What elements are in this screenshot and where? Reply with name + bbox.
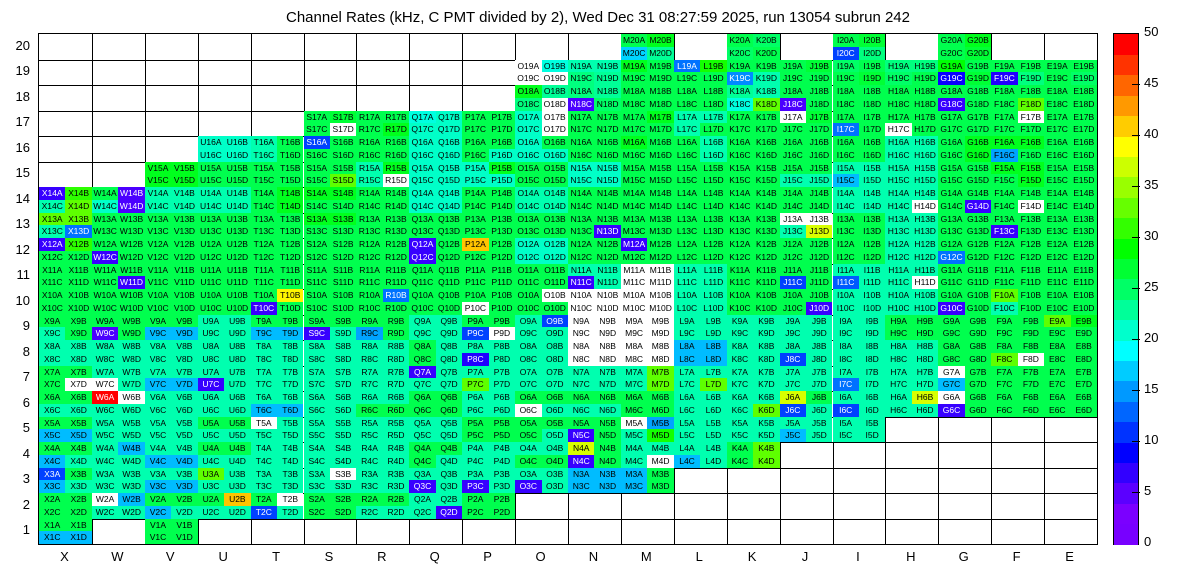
heatmap-subcell[interactable]: I11D: [859, 276, 885, 289]
heatmap-subcell[interactable]: O9D: [542, 327, 568, 340]
heatmap-cell[interactable]: Q14AQ14BQ14CQ14D: [409, 187, 462, 213]
heatmap-subcell[interactable]: S10C: [304, 302, 330, 315]
heatmap-subcell[interactable]: F18C: [991, 98, 1017, 111]
heatmap-subcell[interactable]: O3C: [515, 480, 541, 493]
heatmap-cell[interactable]: T3AT3BT3CT3D: [251, 468, 304, 494]
heatmap-subcell[interactable]: O4D: [542, 455, 568, 468]
heatmap-subcell[interactable]: V14A: [145, 187, 171, 200]
heatmap-subcell[interactable]: F12D: [1018, 251, 1044, 264]
heatmap-cell[interactable]: W13AW13BW13CW13D: [92, 213, 145, 239]
heatmap-subcell[interactable]: K14C: [727, 200, 753, 213]
heatmap-cell[interactable]: T10AT10BT10CT10D: [251, 289, 304, 315]
heatmap-subcell[interactable]: L9B: [700, 315, 726, 328]
heatmap-cell[interactable]: F16AF16BF16CF16D: [991, 136, 1044, 162]
heatmap-subcell[interactable]: X11A: [39, 264, 65, 277]
heatmap-subcell[interactable]: I19C: [833, 72, 859, 85]
heatmap-subcell[interactable]: S9D: [330, 327, 356, 340]
heatmap-subcell[interactable]: P6B: [489, 391, 515, 404]
heatmap-subcell[interactable]: U6D: [224, 404, 250, 417]
heatmap-subcell[interactable]: F14C: [991, 200, 1017, 213]
heatmap-subcell[interactable]: R16A: [356, 136, 382, 149]
heatmap-subcell[interactable]: N8C: [568, 353, 594, 366]
heatmap-cell[interactable]: O18AO18BO18CO18D: [515, 85, 568, 111]
heatmap-cell[interactable]: H11AH11BH11CH11D: [885, 264, 938, 290]
heatmap-subcell[interactable]: J8B: [806, 340, 832, 353]
heatmap-cell[interactable]: K4AK4BK4CK4D: [727, 442, 780, 468]
heatmap-cell[interactable]: W14AW14BW14CW14D: [92, 187, 145, 213]
heatmap-cell[interactable]: F8AF8BF8CF8D: [991, 340, 1044, 366]
heatmap-subcell[interactable]: K14B: [753, 187, 779, 200]
heatmap-subcell[interactable]: I6C: [833, 404, 859, 417]
heatmap-subcell[interactable]: I10C: [833, 302, 859, 315]
heatmap-subcell[interactable]: V11A: [145, 264, 171, 277]
heatmap-subcell[interactable]: P7D: [489, 378, 515, 391]
heatmap-subcell[interactable]: I16C: [833, 149, 859, 162]
heatmap-subcell[interactable]: P9A: [462, 315, 488, 328]
heatmap-subcell[interactable]: I14A: [833, 187, 859, 200]
heatmap-subcell[interactable]: J11B: [806, 264, 832, 277]
heatmap-subcell[interactable]: S17D: [330, 123, 356, 136]
heatmap-subcell[interactable]: W4B: [118, 442, 144, 455]
heatmap-subcell[interactable]: H9D: [912, 327, 938, 340]
heatmap-subcell[interactable]: R9B: [383, 315, 409, 328]
heatmap-subcell[interactable]: G16A: [938, 136, 964, 149]
heatmap-subcell[interactable]: G8A: [938, 340, 964, 353]
heatmap-subcell[interactable]: R9A: [356, 315, 382, 328]
heatmap-subcell[interactable]: O3B: [542, 468, 568, 481]
heatmap-subcell[interactable]: W7B: [118, 366, 144, 379]
heatmap-subcell[interactable]: W13C: [92, 225, 118, 238]
heatmap-subcell[interactable]: S13D: [330, 225, 356, 238]
heatmap-subcell[interactable]: W3C: [92, 480, 118, 493]
heatmap-cell[interactable]: J18AJ18BJ18CJ18D: [780, 85, 833, 111]
heatmap-subcell[interactable]: T7A: [251, 366, 277, 379]
heatmap-subcell[interactable]: N14D: [594, 200, 620, 213]
heatmap-subcell[interactable]: I8A: [833, 340, 859, 353]
heatmap-subcell[interactable]: V5A: [145, 417, 171, 430]
heatmap-cell[interactable]: T12AT12BT12CT12D: [251, 238, 304, 264]
heatmap-subcell[interactable]: L19A: [674, 60, 700, 73]
heatmap-subcell[interactable]: Q11C: [409, 276, 435, 289]
heatmap-subcell[interactable]: W5D: [118, 429, 144, 442]
heatmap-subcell[interactable]: J11C: [780, 276, 806, 289]
heatmap-subcell[interactable]: M3C: [621, 480, 647, 493]
heatmap-subcell[interactable]: F9A: [991, 315, 1017, 328]
heatmap-subcell[interactable]: J19B: [806, 60, 832, 73]
heatmap-subcell[interactable]: U15C: [198, 174, 224, 187]
heatmap-subcell[interactable]: K20A: [727, 34, 753, 47]
heatmap-cell[interactable]: G13AG13BG13CG13D: [938, 213, 991, 239]
heatmap-subcell[interactable]: G7C: [938, 378, 964, 391]
heatmap-subcell[interactable]: H10A: [885, 289, 911, 302]
heatmap-subcell[interactable]: Q3D: [436, 480, 462, 493]
heatmap-cell[interactable]: E16AE16BE16CE16D: [1044, 136, 1097, 162]
heatmap-subcell[interactable]: X14A: [39, 187, 65, 200]
heatmap-subcell[interactable]: H15D: [912, 174, 938, 187]
heatmap-subcell[interactable]: P11A: [462, 264, 488, 277]
heatmap-subcell[interactable]: L12B: [700, 238, 726, 251]
heatmap-subcell[interactable]: G6D: [965, 404, 991, 417]
heatmap-subcell[interactable]: H6C: [885, 404, 911, 417]
heatmap-cell[interactable]: E14AE14BE14CE14D: [1044, 187, 1097, 213]
heatmap-subcell[interactable]: M18B: [647, 85, 673, 98]
heatmap-cell[interactable]: W11AW11BW11CW11D: [92, 264, 145, 290]
heatmap-cell[interactable]: P6AP6BP6CP6D: [462, 391, 515, 417]
heatmap-subcell[interactable]: R4A: [356, 442, 382, 455]
heatmap-subcell[interactable]: K19A: [727, 60, 753, 73]
heatmap-subcell[interactable]: I6B: [859, 391, 885, 404]
heatmap-subcell[interactable]: X14B: [65, 187, 91, 200]
heatmap-subcell[interactable]: O3D: [542, 480, 568, 493]
heatmap-subcell[interactable]: I11C: [833, 276, 859, 289]
heatmap-subcell[interactable]: R11B: [383, 264, 409, 277]
heatmap-subcell[interactable]: V4C: [145, 455, 171, 468]
heatmap-cell[interactable]: N9AN9BN9CN9D: [568, 315, 621, 341]
heatmap-subcell[interactable]: N6B: [594, 391, 620, 404]
heatmap-subcell[interactable]: U7C: [198, 378, 224, 391]
heatmap-cell[interactable]: G8AG8BG8CG8D: [938, 340, 991, 366]
heatmap-subcell[interactable]: O19B: [542, 60, 568, 73]
heatmap-subcell[interactable]: N9C: [568, 327, 594, 340]
heatmap-subcell[interactable]: N16C: [568, 149, 594, 162]
heatmap-subcell[interactable]: K16B: [753, 136, 779, 149]
heatmap-subcell[interactable]: Q16D: [436, 149, 462, 162]
heatmap-subcell[interactable]: J12A: [780, 238, 806, 251]
heatmap-subcell[interactable]: K5B: [753, 417, 779, 430]
heatmap-cell[interactable]: U4AU4BU4CU4D: [198, 442, 251, 468]
heatmap-subcell[interactable]: T4A: [251, 442, 277, 455]
heatmap-cell[interactable]: T16AT16BT16CT16D: [251, 136, 304, 162]
heatmap-subcell[interactable]: G16B: [965, 136, 991, 149]
heatmap-subcell[interactable]: I20B: [859, 34, 885, 47]
heatmap-subcell[interactable]: K20B: [753, 34, 779, 47]
heatmap-subcell[interactable]: X1C: [39, 531, 65, 544]
heatmap-subcell[interactable]: H13B: [912, 213, 938, 226]
heatmap-subcell[interactable]: X14C: [39, 200, 65, 213]
heatmap-subcell[interactable]: U9C: [198, 327, 224, 340]
heatmap-subcell[interactable]: H14C: [885, 200, 911, 213]
heatmap-subcell[interactable]: V4A: [145, 442, 171, 455]
heatmap-cell[interactable]: U6AU6BU6CU6D: [198, 391, 251, 417]
heatmap-subcell[interactable]: R8C: [356, 353, 382, 366]
heatmap-subcell[interactable]: T13A: [251, 213, 277, 226]
heatmap-subcell[interactable]: N15D: [594, 174, 620, 187]
heatmap-subcell[interactable]: N9B: [594, 315, 620, 328]
heatmap-subcell[interactable]: O9B: [542, 315, 568, 328]
heatmap-subcell[interactable]: T5A: [251, 417, 277, 430]
heatmap-subcell[interactable]: Q6C: [409, 404, 435, 417]
heatmap-subcell[interactable]: Q14D: [436, 200, 462, 213]
heatmap-subcell[interactable]: R10D: [383, 302, 409, 315]
heatmap-cell[interactable]: W8AW8BW8CW8D: [92, 340, 145, 366]
heatmap-subcell[interactable]: J13D: [806, 225, 832, 238]
heatmap-subcell[interactable]: Q17C: [409, 123, 435, 136]
heatmap-subcell[interactable]: O19D: [542, 72, 568, 85]
heatmap-cell[interactable]: R16AR16BR16CR16D: [356, 136, 409, 162]
heatmap-cell[interactable]: I6AI6BI6CI6D: [833, 391, 886, 417]
heatmap-subcell[interactable]: G17B: [965, 111, 991, 124]
heatmap-subcell[interactable]: R14A: [356, 187, 382, 200]
heatmap-subcell[interactable]: G15B: [965, 162, 991, 175]
heatmap-subcell[interactable]: H10C: [885, 302, 911, 315]
heatmap-subcell[interactable]: S15D: [330, 174, 356, 187]
heatmap-subcell[interactable]: K12C: [727, 251, 753, 264]
heatmap-cell[interactable]: U5AU5BU5CU5D: [198, 417, 251, 443]
heatmap-subcell[interactable]: T15D: [277, 174, 303, 187]
heatmap-subcell[interactable]: V2C: [145, 506, 171, 519]
heatmap-subcell[interactable]: N3A: [568, 468, 594, 481]
heatmap-subcell[interactable]: R8B: [383, 340, 409, 353]
heatmap-subcell[interactable]: L5B: [700, 417, 726, 430]
heatmap-subcell[interactable]: K4A: [727, 442, 753, 455]
heatmap-cell[interactable]: F12AF12BF12CF12D: [991, 238, 1044, 264]
heatmap-subcell[interactable]: E18C: [1044, 98, 1070, 111]
heatmap-subcell[interactable]: X12B: [65, 238, 91, 251]
heatmap-subcell[interactable]: K18B: [753, 85, 779, 98]
heatmap-subcell[interactable]: Q12C: [409, 251, 435, 264]
heatmap-subcell[interactable]: N3B: [594, 468, 620, 481]
heatmap-cell[interactable]: R6AR6BR6CR6D: [356, 391, 409, 417]
heatmap-subcell[interactable]: K7C: [727, 378, 753, 391]
heatmap-subcell[interactable]: U8D: [224, 353, 250, 366]
heatmap-subcell[interactable]: H12A: [885, 238, 911, 251]
heatmap-subcell[interactable]: U6B: [224, 391, 250, 404]
heatmap-subcell[interactable]: G12A: [938, 238, 964, 251]
heatmap-subcell[interactable]: G20C: [938, 47, 964, 60]
heatmap-cell[interactable]: L18AL18BL18CL18D: [674, 85, 727, 111]
heatmap-subcell[interactable]: N15C: [568, 174, 594, 187]
heatmap-subcell[interactable]: N13B: [594, 213, 620, 226]
heatmap-subcell[interactable]: N12C: [568, 251, 594, 264]
heatmap-subcell[interactable]: U5B: [224, 417, 250, 430]
heatmap-cell[interactable]: I13AI13BI13CI13D: [833, 213, 886, 239]
heatmap-subcell[interactable]: P2D: [489, 506, 515, 519]
heatmap-subcell[interactable]: N10A: [568, 289, 594, 302]
heatmap-subcell[interactable]: F9D: [1018, 327, 1044, 340]
heatmap-subcell[interactable]: K13A: [727, 213, 753, 226]
heatmap-cell[interactable]: O16AO16BO16CO16D: [515, 136, 568, 162]
heatmap-cell[interactable]: R7AR7BR7CR7D: [356, 366, 409, 392]
heatmap-subcell[interactable]: H12C: [885, 251, 911, 264]
heatmap-subcell[interactable]: Q6B: [436, 391, 462, 404]
heatmap-subcell[interactable]: O14B: [542, 187, 568, 200]
heatmap-subcell[interactable]: N14C: [568, 200, 594, 213]
heatmap-subcell[interactable]: T3B: [277, 468, 303, 481]
heatmap-cell[interactable]: S9AS9BS9CS9D: [304, 315, 357, 341]
heatmap-subcell[interactable]: X1B: [65, 519, 91, 532]
heatmap-subcell[interactable]: E12A: [1044, 238, 1070, 251]
heatmap-subcell[interactable]: E17C: [1044, 123, 1070, 136]
heatmap-subcell[interactable]: F19A: [991, 60, 1017, 73]
heatmap-subcell[interactable]: M18A: [621, 85, 647, 98]
heatmap-subcell[interactable]: N19D: [594, 72, 620, 85]
heatmap-subcell[interactable]: M8C: [621, 353, 647, 366]
heatmap-subcell[interactable]: L13C: [674, 225, 700, 238]
heatmap-subcell[interactable]: K8A: [727, 340, 753, 353]
heatmap-subcell[interactable]: O5B: [542, 417, 568, 430]
heatmap-cell[interactable]: O4AO4BO4CO4D: [515, 442, 568, 468]
heatmap-subcell[interactable]: K10A: [727, 289, 753, 302]
heatmap-subcell[interactable]: U16C: [198, 149, 224, 162]
heatmap-subcell[interactable]: W8B: [118, 340, 144, 353]
heatmap-subcell[interactable]: F13C: [991, 225, 1017, 238]
heatmap-subcell[interactable]: E14B: [1071, 187, 1097, 200]
heatmap-subcell[interactable]: I5C: [833, 429, 859, 442]
heatmap-subcell[interactable]: P4B: [489, 442, 515, 455]
heatmap-subcell[interactable]: G9C: [938, 327, 964, 340]
heatmap-subcell[interactable]: H14A: [885, 187, 911, 200]
heatmap-subcell[interactable]: L14C: [674, 200, 700, 213]
heatmap-subcell[interactable]: M19A: [621, 60, 647, 73]
heatmap-subcell[interactable]: S8D: [330, 353, 356, 366]
heatmap-cell[interactable]: K12AK12BK12CK12D: [727, 238, 780, 264]
heatmap-subcell[interactable]: V3A: [145, 468, 171, 481]
heatmap-subcell[interactable]: L13B: [700, 213, 726, 226]
heatmap-subcell[interactable]: H16A: [885, 136, 911, 149]
heatmap-subcell[interactable]: J10B: [806, 289, 832, 302]
heatmap-subcell[interactable]: V5C: [145, 429, 171, 442]
heatmap-subcell[interactable]: H8A: [885, 340, 911, 353]
heatmap-cell[interactable]: F13AF13BF13CF13D: [991, 213, 1044, 239]
heatmap-subcell[interactable]: P6A: [462, 391, 488, 404]
heatmap-subcell[interactable]: L16A: [674, 136, 700, 149]
heatmap-subcell[interactable]: H9B: [912, 315, 938, 328]
heatmap-subcell[interactable]: H15B: [912, 162, 938, 175]
heatmap-subcell[interactable]: V6B: [171, 391, 197, 404]
heatmap-cell[interactable]: J19AJ19BJ19CJ19D: [780, 60, 833, 86]
heatmap-subcell[interactable]: P12A: [462, 238, 488, 251]
heatmap-subcell[interactable]: S13B: [330, 213, 356, 226]
heatmap-cell[interactable]: P16AP16BP16CP16D: [462, 136, 515, 162]
heatmap-subcell[interactable]: G6A: [938, 391, 964, 404]
heatmap-subcell[interactable]: S14D: [330, 200, 356, 213]
heatmap-cell[interactable]: S5AS5BS5CS5D: [304, 417, 357, 443]
heatmap-subcell[interactable]: G13D: [965, 225, 991, 238]
heatmap-cell[interactable]: X10AX10BX10CX10D: [39, 289, 92, 315]
heatmap-cell[interactable]: N8AN8BN8CN8D: [568, 340, 621, 366]
heatmap-subcell[interactable]: E15C: [1044, 174, 1070, 187]
heatmap-subcell[interactable]: Q13D: [436, 225, 462, 238]
heatmap-cell[interactable]: P4AP4BP4CP4D: [462, 442, 515, 468]
heatmap-subcell[interactable]: T9B: [277, 315, 303, 328]
heatmap-subcell[interactable]: U3C: [198, 480, 224, 493]
heatmap-subcell[interactable]: S16C: [304, 149, 330, 162]
heatmap-subcell[interactable]: X11C: [39, 276, 65, 289]
heatmap-subcell[interactable]: L6C: [674, 404, 700, 417]
heatmap-subcell[interactable]: X7C: [39, 378, 65, 391]
heatmap-cell[interactable]: I17AI17BI17CI17D: [833, 111, 886, 137]
heatmap-subcell[interactable]: P8D: [489, 353, 515, 366]
heatmap-subcell[interactable]: O12A: [515, 238, 541, 251]
heatmap-subcell[interactable]: S12B: [330, 238, 356, 251]
heatmap-cell[interactable]: U14AU14BU14CU14D: [198, 187, 251, 213]
heatmap-subcell[interactable]: F14A: [991, 187, 1017, 200]
heatmap-cell[interactable]: T5AT5BT5CT5D: [251, 417, 304, 443]
heatmap-subcell[interactable]: G11B: [965, 264, 991, 277]
heatmap-subcell[interactable]: R14B: [383, 187, 409, 200]
heatmap-subcell[interactable]: N6C: [568, 404, 594, 417]
heatmap-subcell[interactable]: F18A: [991, 85, 1017, 98]
heatmap-subcell[interactable]: Q10B: [436, 289, 462, 302]
heatmap-cell[interactable]: L16AL16BL16CL16D: [674, 136, 727, 162]
heatmap-subcell[interactable]: J14C: [780, 200, 806, 213]
heatmap-subcell[interactable]: M18C: [621, 98, 647, 111]
heatmap-subcell[interactable]: Q2B: [436, 493, 462, 506]
heatmap-subcell[interactable]: X2A: [39, 493, 65, 506]
heatmap-subcell[interactable]: E10A: [1044, 289, 1070, 302]
heatmap-subcell[interactable]: H17C: [885, 123, 911, 136]
heatmap-subcell[interactable]: F13D: [1018, 225, 1044, 238]
heatmap-subcell[interactable]: W10C: [92, 302, 118, 315]
heatmap-subcell[interactable]: P8B: [489, 340, 515, 353]
heatmap-subcell[interactable]: J9C: [780, 327, 806, 340]
heatmap-subcell[interactable]: G11C: [938, 276, 964, 289]
heatmap-subcell[interactable]: E19D: [1071, 72, 1097, 85]
heatmap-subcell[interactable]: E12D: [1071, 251, 1097, 264]
heatmap-subcell[interactable]: O16A: [515, 136, 541, 149]
heatmap-subcell[interactable]: F8A: [991, 340, 1017, 353]
heatmap-subcell[interactable]: U10B: [224, 289, 250, 302]
heatmap-subcell[interactable]: F16B: [1018, 136, 1044, 149]
heatmap-cell[interactable]: P8AP8BP8CP8D: [462, 340, 515, 366]
heatmap-subcell[interactable]: U11D: [224, 276, 250, 289]
heatmap-cell[interactable]: M8AM8BM8CM8D: [621, 340, 674, 366]
heatmap-subcell[interactable]: I14D: [859, 200, 885, 213]
heatmap-subcell[interactable]: J7B: [806, 366, 832, 379]
heatmap-cell[interactable]: I19AI19BI19CI19D: [833, 60, 886, 86]
heatmap-cell[interactable]: J15AJ15BJ15CJ15D: [780, 162, 833, 188]
heatmap-cell[interactable]: K15AK15BK15CK15D: [727, 162, 780, 188]
heatmap-subcell[interactable]: R5C: [356, 429, 382, 442]
heatmap-subcell[interactable]: G20D: [965, 47, 991, 60]
heatmap-subcell[interactable]: P3B: [489, 468, 515, 481]
heatmap-cell[interactable]: L17AL17BL17CL17D: [674, 111, 727, 137]
heatmap-cell[interactable]: O11AO11BO11CO11D: [515, 264, 568, 290]
heatmap-subcell[interactable]: M20C: [621, 47, 647, 60]
heatmap-subcell[interactable]: M9A: [621, 315, 647, 328]
heatmap-cell[interactable]: J6AJ6BJ6CJ6D: [780, 391, 833, 417]
heatmap-subcell[interactable]: M6D: [647, 404, 673, 417]
heatmap-subcell[interactable]: K19B: [753, 60, 779, 73]
heatmap-cell[interactable]: W4AW4BW4CW4D: [92, 442, 145, 468]
heatmap-cell[interactable]: V6AV6BV6CV6D: [145, 391, 198, 417]
heatmap-cell[interactable]: N6AN6BN6CN6D: [568, 391, 621, 417]
heatmap-subcell[interactable]: T10B: [277, 289, 303, 302]
heatmap-subcell[interactable]: L8D: [700, 353, 726, 366]
heatmap-subcell[interactable]: J9A: [780, 315, 806, 328]
heatmap-cell[interactable]: Q10AQ10BQ10CQ10D: [409, 289, 462, 315]
heatmap-subcell[interactable]: I20D: [859, 47, 885, 60]
heatmap-subcell[interactable]: V1C: [145, 531, 171, 544]
heatmap-cell[interactable]: X14AX14BX14CX14D: [39, 187, 92, 213]
heatmap-subcell[interactable]: S5A: [304, 417, 330, 430]
heatmap-subcell[interactable]: W12D: [118, 251, 144, 264]
heatmap-subcell[interactable]: N7D: [594, 378, 620, 391]
heatmap-cell[interactable]: I10AI10BI10CI10D: [833, 289, 886, 315]
heatmap-subcell[interactable]: M11C: [621, 276, 647, 289]
heatmap-subcell[interactable]: R6A: [356, 391, 382, 404]
heatmap-subcell[interactable]: P10C: [462, 302, 488, 315]
heatmap-subcell[interactable]: G13C: [938, 225, 964, 238]
heatmap-subcell[interactable]: O5A: [515, 417, 541, 430]
heatmap-cell[interactable]: X5AX5BX5CX5D: [39, 417, 92, 443]
heatmap-subcell[interactable]: K4C: [727, 455, 753, 468]
heatmap-cell[interactable]: M11AM11BM11CM11D: [621, 264, 674, 290]
heatmap-subcell[interactable]: M12D: [647, 251, 673, 264]
heatmap-subcell[interactable]: W5B: [118, 417, 144, 430]
heatmap-subcell[interactable]: F11D: [1018, 276, 1044, 289]
heatmap-cell[interactable]: T6AT6BT6CT6D: [251, 391, 304, 417]
